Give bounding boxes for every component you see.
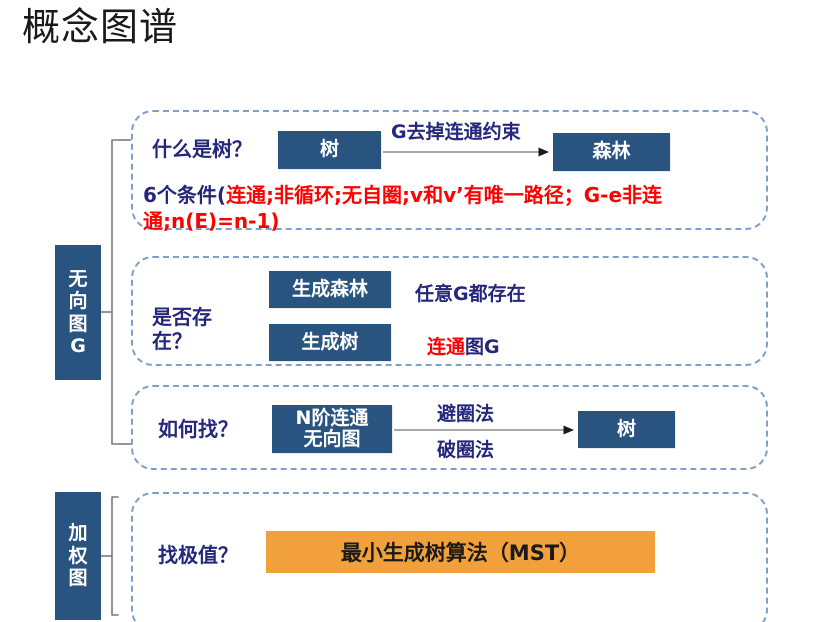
question-find-extremum: 找极值？ <box>158 543 238 567</box>
tree-conditions-text: 6个条件(连通;非循环;无自圈;v和v’有唯一路径；G-e非连通;n(E)=n-… <box>143 182 758 235</box>
tree-conditions-prefix: 6个条件( <box>143 183 226 207</box>
page-title: 概念图谱 <box>22 6 178 50</box>
node-tree[interactable]: 树 <box>278 131 381 169</box>
question-what-is-tree: 什么是树？ <box>152 137 252 161</box>
bracket-undirected-graph <box>101 140 131 444</box>
group-label-line: 无 <box>68 268 87 290</box>
node-n-order-line2: 无向图 <box>296 429 369 450</box>
question-how-to-find: 如何找？ <box>158 417 238 441</box>
group-label-line: G <box>68 335 87 357</box>
question-existence: 是否存 在？ <box>152 305 212 353</box>
group-label-weighted-graph: 加 权 图 <box>55 492 101 620</box>
group-label-line: 图 <box>68 567 87 589</box>
method-break-cycle: 破圈法 <box>437 435 494 462</box>
node-n-order-connected-undirected-graph[interactable]: N阶连通 无向图 <box>272 405 392 453</box>
group-label-line: 图 <box>68 313 87 335</box>
method-avoid-cycle: 避圈法 <box>437 399 494 426</box>
node-forest[interactable]: 森林 <box>553 133 670 171</box>
node-n-order-line1: N阶连通 <box>296 408 369 429</box>
slide-canvas: 概念图谱 无 向 图 G 加 权 图 什么是树？ 树 G去掉连通约束 森林 6个… <box>0 0 829 622</box>
edge-label-remove-connectivity: G去掉连通约束 <box>391 117 521 144</box>
question-existence-line2: 在？ <box>152 329 212 353</box>
bracket-weighted-graph <box>101 497 118 615</box>
node-spanning-forest[interactable]: 生成森林 <box>269 271 391 308</box>
group-label-line: 向 <box>68 290 87 312</box>
note-spanning-tree-rest: 图G <box>465 336 500 358</box>
question-existence-line1: 是否存 <box>152 305 212 329</box>
node-spanning-tree[interactable]: 生成树 <box>269 324 391 361</box>
node-tree-result[interactable]: 树 <box>578 411 675 448</box>
group-label-line: 权 <box>68 545 87 567</box>
note-spanning-forest: 任意G都存在 <box>415 279 526 306</box>
group-label-undirected-graph: 无 向 图 G <box>55 245 101 380</box>
note-spanning-tree: 连通图G <box>427 332 500 359</box>
node-mst-algorithm[interactable]: 最小生成树算法（MST） <box>266 531 655 573</box>
note-spanning-tree-highlight: 连通 <box>427 336 465 358</box>
group-label-line: 加 <box>68 522 87 544</box>
